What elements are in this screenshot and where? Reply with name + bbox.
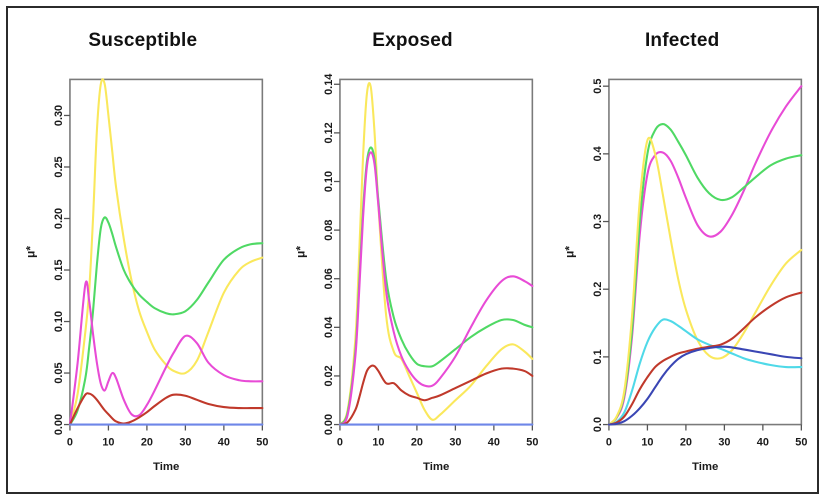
x-tick-label: 50 xyxy=(526,436,538,448)
panel-row: Susceptible 0.000.050.100.150.200.250.30… xyxy=(8,8,817,492)
y-tick-label: 0.5 xyxy=(592,79,604,94)
x-tick-label: 10 xyxy=(642,436,654,448)
x-tick-label: 50 xyxy=(796,436,808,448)
x-tick-label: 0 xyxy=(337,436,343,448)
x-tick-label: 0 xyxy=(606,436,612,448)
curve-green xyxy=(70,217,262,424)
x-tick-label: 0 xyxy=(67,436,73,448)
y-tick-label: 0.30 xyxy=(53,105,65,126)
y-axis-title: μ* xyxy=(563,246,577,258)
plot-infected: 0.00.10.20.30.40.501020304050Timeμ* xyxy=(547,8,817,492)
y-tick-label: 0.14 xyxy=(323,74,335,95)
panel-susceptible: Susceptible 0.000.050.100.150.200.250.30… xyxy=(8,8,278,492)
plot-susceptible: 0.000.050.100.150.200.250.3001020304050T… xyxy=(8,8,278,492)
curve-cyan xyxy=(609,319,801,424)
figure-border: Susceptible 0.000.050.100.150.200.250.30… xyxy=(6,6,819,494)
y-tick-label: 0.06 xyxy=(323,268,335,289)
y-tick-label: 0.00 xyxy=(53,414,65,435)
x-tick-label: 10 xyxy=(372,436,384,448)
y-tick-label: 0.3 xyxy=(592,214,604,229)
y-tick-label: 0.10 xyxy=(53,311,65,332)
y-axis-title: μ* xyxy=(23,246,37,258)
y-tick-label: 0.1 xyxy=(592,349,604,364)
plot-exposed: 0.000.020.040.060.080.100.120.1401020304… xyxy=(278,8,548,492)
x-tick-label: 20 xyxy=(411,436,423,448)
curve-yellow xyxy=(340,83,532,424)
x-tick-label: 30 xyxy=(179,436,191,448)
y-tick-label: 0.25 xyxy=(53,156,65,177)
panel-exposed: Exposed 0.000.020.040.060.080.100.120.14… xyxy=(278,8,548,492)
curve-navy xyxy=(609,347,801,425)
x-tick-label: 40 xyxy=(218,436,230,448)
x-tick-label: 50 xyxy=(256,436,268,448)
x-axis-title: Time xyxy=(153,461,179,473)
y-tick-label: 0.20 xyxy=(53,208,65,229)
x-tick-label: 40 xyxy=(487,436,499,448)
y-tick-label: 0.05 xyxy=(53,362,65,383)
y-tick-label: 0.02 xyxy=(323,365,335,386)
x-tick-label: 20 xyxy=(680,436,692,448)
x-axis-title: Time xyxy=(692,461,718,473)
curve-magenta xyxy=(340,152,532,424)
y-tick-label: 0.04 xyxy=(323,317,335,338)
y-tick-label: 0.2 xyxy=(592,282,604,297)
curve-green xyxy=(609,124,801,424)
x-tick-label: 30 xyxy=(449,436,461,448)
x-tick-label: 30 xyxy=(719,436,731,448)
y-tick-label: 0.10 xyxy=(323,171,335,192)
x-axis-title: Time xyxy=(423,461,449,473)
y-tick-label: 0.08 xyxy=(323,220,335,241)
curve-red xyxy=(609,293,801,425)
y-tick-label: 0.12 xyxy=(323,122,335,143)
y-tick-label: 0.00 xyxy=(323,414,335,435)
y-tick-label: 0.4 xyxy=(592,146,604,161)
x-tick-label: 40 xyxy=(757,436,769,448)
y-tick-label: 0.15 xyxy=(53,259,65,280)
curve-red xyxy=(340,366,532,425)
plot-frame xyxy=(340,79,532,424)
y-axis-title: μ* xyxy=(293,246,307,258)
x-tick-label: 20 xyxy=(141,436,153,448)
curve-red xyxy=(70,393,262,424)
panel-infected: Infected 0.00.10.20.30.40.501020304050Ti… xyxy=(547,8,817,492)
y-tick-label: 0.0 xyxy=(592,417,604,432)
curve-yellow xyxy=(609,138,801,425)
x-tick-label: 10 xyxy=(102,436,114,448)
